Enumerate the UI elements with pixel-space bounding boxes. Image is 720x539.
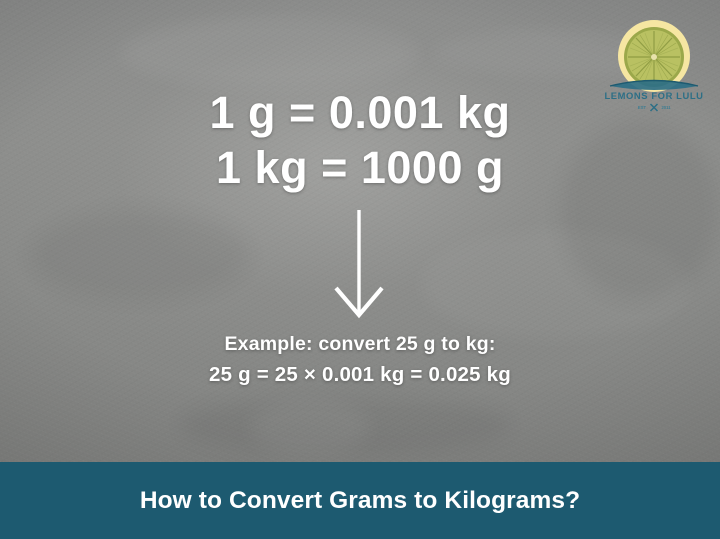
example-line-2: 25 g = 25 × 0.001 kg = 0.025 kg	[0, 363, 720, 387]
banner-title: How to Convert Grams to Kilograms?	[140, 487, 580, 515]
down-arrow-icon	[326, 208, 394, 325]
formula-line-2: 1 kg = 1000 g	[0, 145, 720, 191]
infographic-canvas: LEMONS FOR LULU EST 2011 1 g = 0.001 kg …	[0, 0, 720, 539]
formula-line-1: 1 g = 0.001 kg	[0, 90, 720, 136]
example-line-1: Example: convert 25 g to kg:	[0, 333, 720, 356]
bottom-banner: How to Convert Grams to Kilograms?	[0, 462, 720, 539]
